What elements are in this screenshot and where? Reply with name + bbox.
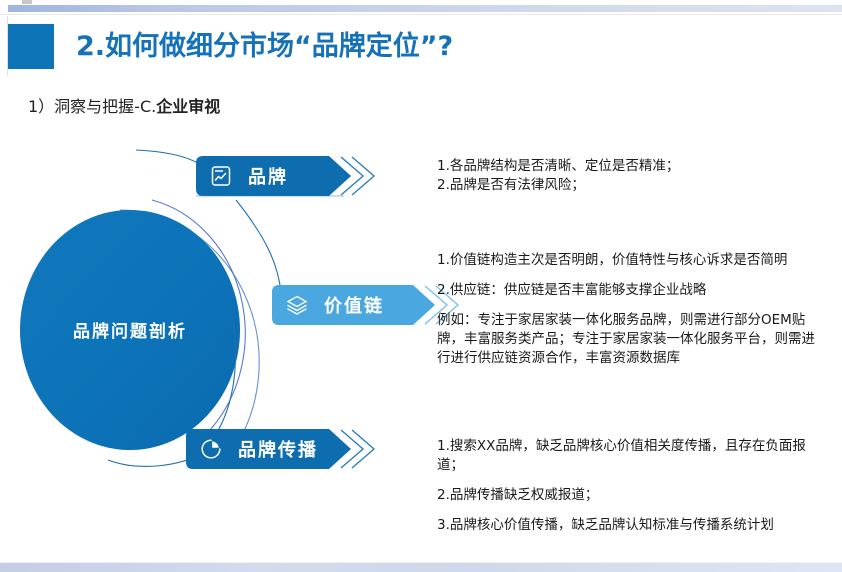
content-line: 1.各品牌结构是否清晰、定位是否精准； <box>437 157 827 176</box>
content-line: 2.品牌传播缺乏权威报道； <box>437 486 827 505</box>
pie-chart-icon <box>198 436 224 462</box>
content-line: 2.供应链：供应链是否丰富能够支撑企业战略 <box>437 281 825 300</box>
content-block-valuechain: 1.价值链构造主次是否明朗，价值特性与核心诉求是否简明 2.供应链：供应链是否丰… <box>437 251 825 368</box>
node-label-communication: 品牌传播 <box>238 436 318 462</box>
content-line: 1.价值链构造主次是否明朗，价值特性与核心诉求是否简明 <box>437 251 825 270</box>
content-block-communication: 1.搜索XX品牌，缺乏品牌核心价值相关度传播，且存在负面报道； 2.品牌传播缺乏… <box>437 437 827 535</box>
content-line: 2.品牌是否有法律风险； <box>437 176 827 195</box>
content-block-brand: 1.各品牌结构是否清晰、定位是否精准； 2.品牌是否有法律风险； <box>437 157 827 195</box>
chart-document-icon <box>208 163 234 189</box>
node-banner-brand[interactable]: 品牌 <box>196 156 346 196</box>
node-label-valuechain: 价值链 <box>324 292 384 318</box>
content-line: 3.品牌核心价值传播，缺乏品牌认知标准与传播系统计划 <box>437 516 827 535</box>
center-circle-label: 品牌问题剖析 <box>73 321 187 342</box>
slide-canvas: 2.如何做细分市场“品牌定位”? 1）洞察与把握-C.企业审视 <box>0 0 842 572</box>
node-banner-valuechain[interactable]: 价值链 <box>272 285 432 325</box>
layers-stack-icon <box>284 292 310 318</box>
content-line: 1.搜索XX品牌，缺乏品牌核心价值相关度传播，且存在负面报道； <box>437 437 827 475</box>
bottom-chrome-band <box>0 563 842 572</box>
node-label-brand: 品牌 <box>248 163 288 189</box>
connector-curve-valuechain <box>236 200 281 292</box>
content-line: 例如：专注于家居家装一体化服务品牌，则需进行部分OEM贴牌，丰富服务类产品；专注… <box>437 311 825 368</box>
node-banner-communication[interactable]: 品牌传播 <box>186 429 350 469</box>
